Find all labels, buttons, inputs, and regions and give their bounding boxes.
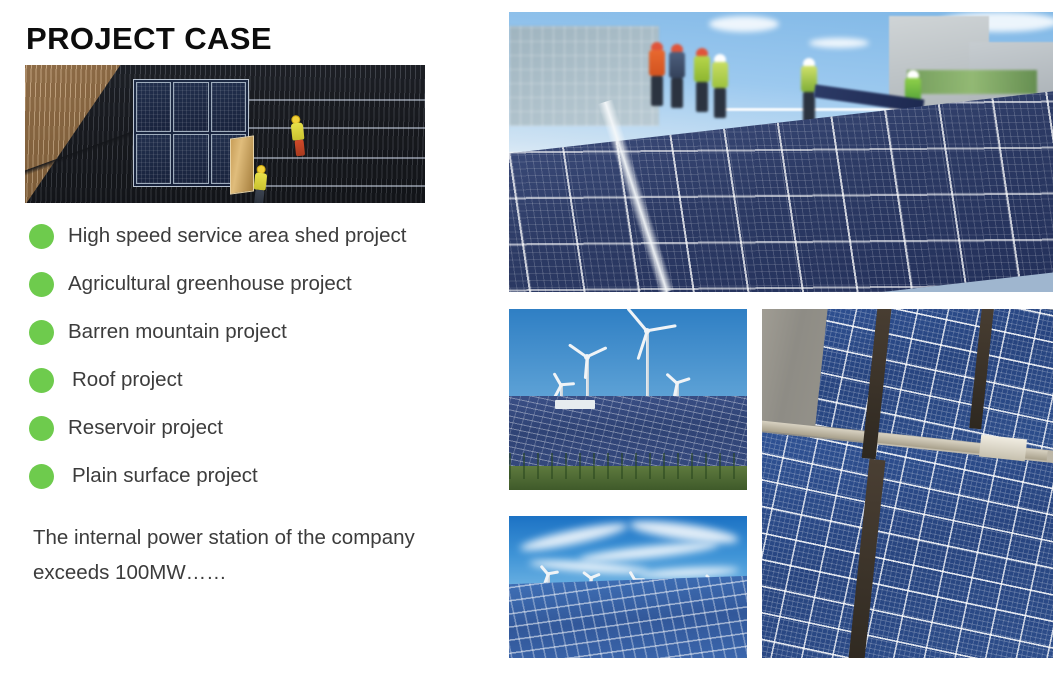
rooftop-crew-hero-photo [509, 12, 1053, 292]
hard-hat [907, 70, 919, 78]
equipment-shed [555, 400, 595, 409]
safety-vest [712, 62, 728, 88]
solar-panel-array [762, 432, 1053, 658]
worker-legs [651, 76, 663, 106]
perimeter-fence [509, 453, 747, 479]
photo-gallery [0, 0, 1060, 689]
hard-hat [714, 54, 726, 62]
safety-vest [669, 52, 685, 78]
cloud [709, 16, 779, 32]
wind-turbines-solar-farm-photo [509, 309, 747, 490]
safety-vest [694, 56, 710, 82]
hard-hat [696, 48, 708, 56]
worker-legs [696, 82, 708, 112]
cloud [809, 38, 869, 48]
safety-vest [649, 50, 665, 76]
hard-hat [803, 58, 815, 66]
solar-panel-array [509, 575, 747, 658]
green-vegetation-strip [907, 70, 1037, 94]
worker-figure [694, 48, 710, 112]
worker-legs [671, 78, 683, 108]
roof-equipment [979, 435, 1027, 462]
aerial-industrial-rooftop-array-photo [762, 309, 1053, 658]
hard-hat [651, 42, 663, 50]
worker-legs [714, 88, 726, 118]
worker-figure [669, 44, 685, 108]
glass-building [509, 26, 659, 126]
worker-figure [712, 54, 728, 118]
wind-turbine [629, 331, 665, 403]
grassland-solar-array-photo [509, 516, 747, 658]
hard-hat [671, 44, 683, 52]
worker-figure [649, 42, 665, 106]
